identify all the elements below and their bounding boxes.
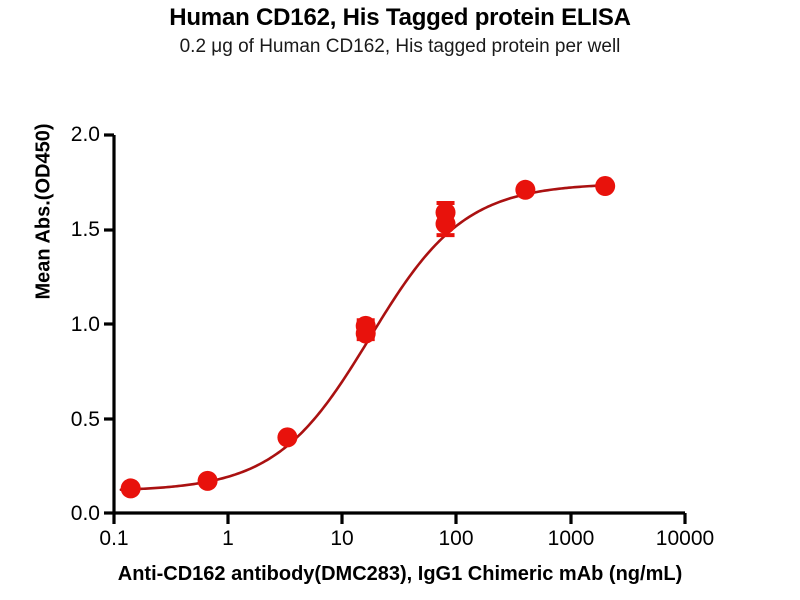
plot-canvas — [0, 0, 800, 600]
data-point-marker — [277, 427, 297, 447]
elisa-chart-figure: Human CD162, His Tagged protein ELISA 0.… — [0, 0, 800, 600]
data-point-marker — [436, 202, 456, 222]
data-point-marker — [595, 176, 615, 196]
data-point-marker — [198, 471, 218, 491]
data-point-marker — [121, 478, 141, 498]
data-markers — [121, 176, 615, 498]
data-point-marker — [356, 316, 376, 336]
data-point-marker — [515, 180, 535, 200]
x-axis-ticks — [114, 513, 685, 524]
